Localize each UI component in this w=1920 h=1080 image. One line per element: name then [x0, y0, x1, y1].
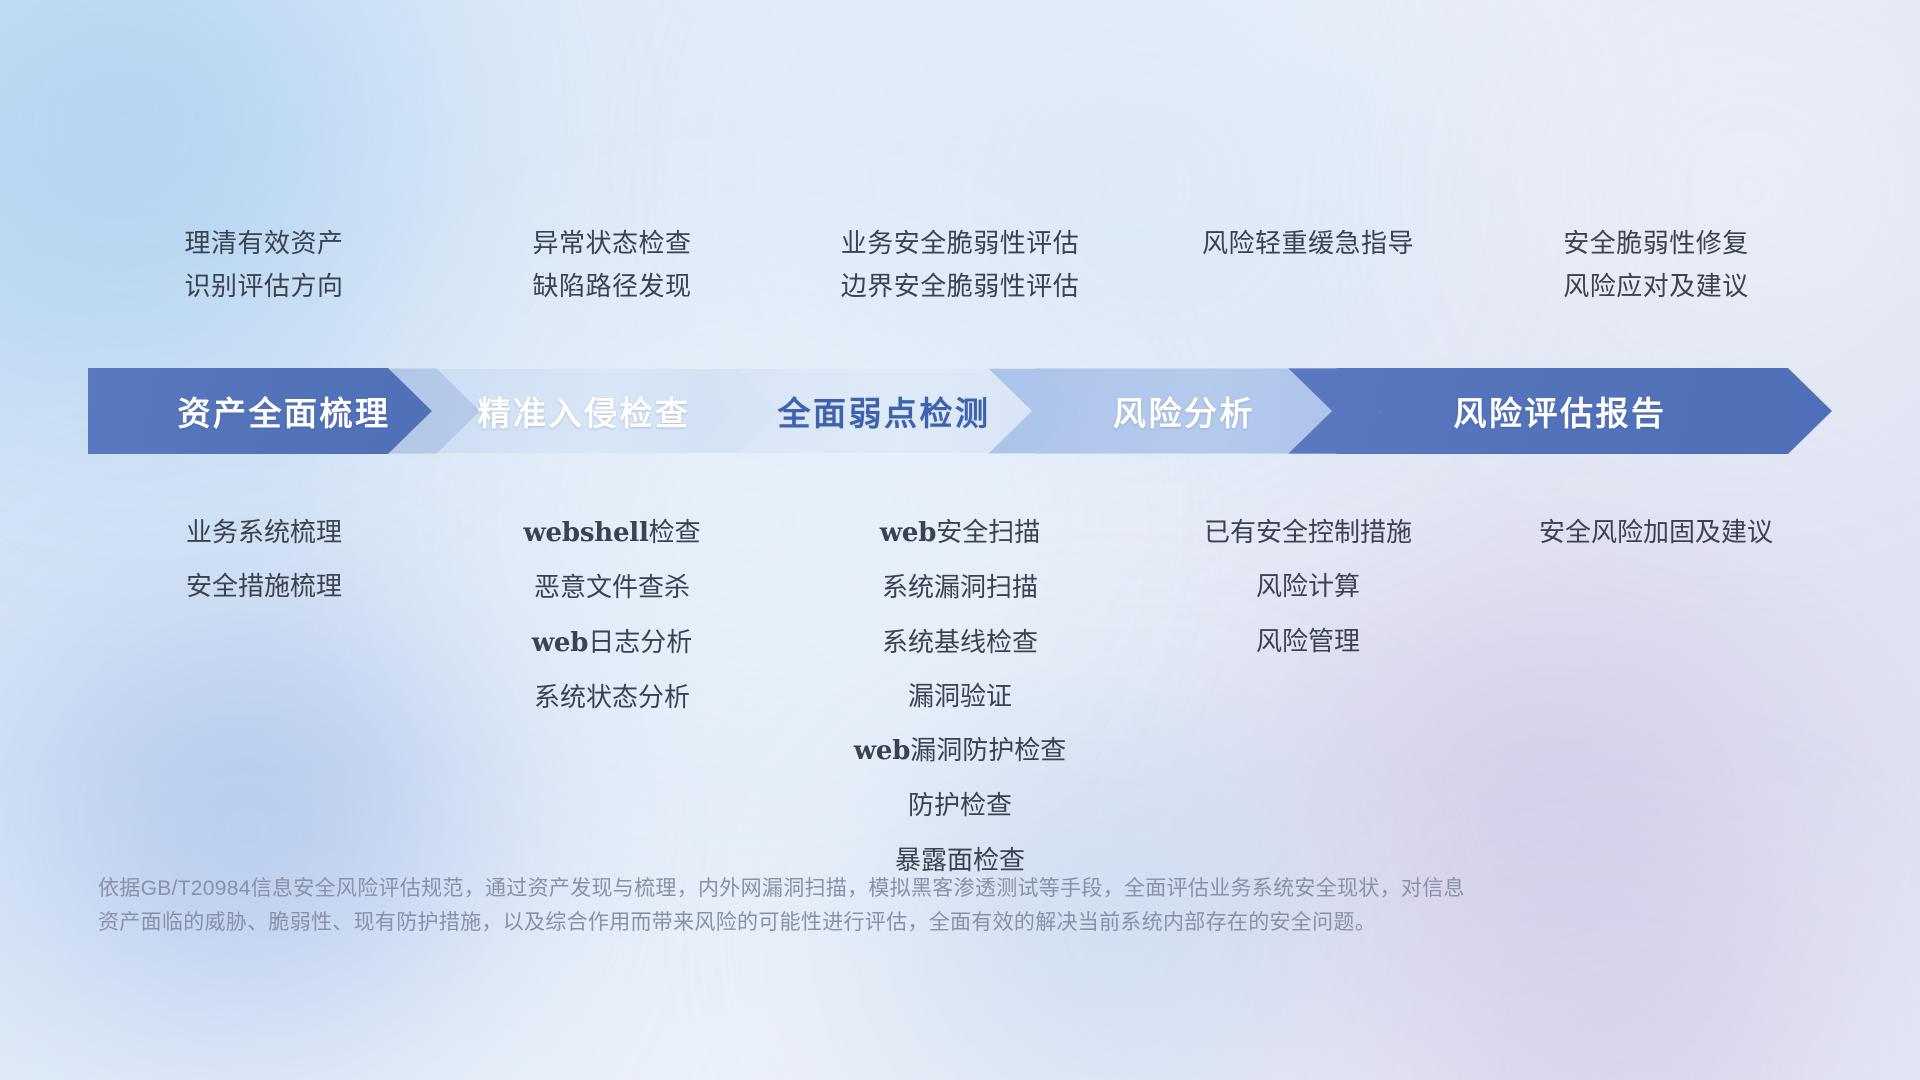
list-item: 风险计算 — [1134, 566, 1482, 606]
top-annotations-stage-4: 风险轻重缓急指导 — [1134, 222, 1482, 308]
list-item: 安全风险加固及建议 — [1482, 512, 1830, 552]
process-chevron-band: 资产全面梳理 精准入侵检查 全面弱点检测 风险分析 风险评估报告 — [88, 368, 1832, 454]
list-item-text: 安全措施梳理 — [186, 571, 342, 601]
list-item-text: 漏洞防护检查 — [910, 735, 1066, 765]
list-item: 漏洞验证 — [786, 676, 1134, 716]
list-item-text: 系统状态分析 — [534, 682, 690, 712]
top-annotation-item: 理清有效资产 — [90, 222, 438, 265]
list-item-text: 安全风险加固及建议 — [1539, 517, 1773, 547]
top-annotation-item: 异常状态检查 — [438, 222, 786, 265]
footer-description: 依据GB/T20984信息安全风险评估规范，通过资产发现与梳理，内外网漏洞扫描，… — [98, 872, 1618, 940]
bottom-list-stage-1: 业务系统梳理 安全措施梳理 — [90, 512, 438, 621]
list-item: 系统漏洞扫描 — [786, 567, 1134, 607]
list-item-prefix: web — [854, 736, 911, 766]
list-item-text: 风险计算 — [1256, 571, 1360, 601]
bottom-list-stage-5: 安全风险加固及建议 — [1482, 512, 1830, 566]
bottom-details-row: 业务系统梳理 安全措施梳理 webshell检查 恶意文件查杀 web日志分析 … — [90, 512, 1830, 894]
chevron-label: 风险评估报告 — [1454, 387, 1667, 435]
list-item-text: 日志分析 — [588, 627, 692, 657]
top-annotations-stage-2: 异常状态检查 缺陷路径发现 — [438, 222, 786, 308]
list-item: web安全扫描 — [786, 512, 1134, 553]
chevron-stage-4[interactable]: 风险分析 — [988, 368, 1380, 454]
bottom-list-stage-2: webshell检查 恶意文件查杀 web日志分析 系统状态分析 — [438, 512, 786, 731]
list-item-prefix: web — [880, 518, 937, 548]
list-item: 系统基线检查 — [786, 622, 1134, 662]
list-item: 系统状态分析 — [438, 677, 786, 717]
chevron-label: 资产全面梳理 — [178, 387, 391, 435]
list-item: web漏洞防护检查 — [786, 730, 1134, 771]
list-item-text: 检查 — [649, 517, 701, 547]
list-item: 安全措施梳理 — [90, 566, 438, 606]
list-item: 业务系统梳理 — [90, 512, 438, 552]
list-item-text: 系统基线检查 — [882, 627, 1038, 657]
chevron-label: 精准入侵检查 — [478, 387, 691, 435]
list-item-prefix: webshell — [523, 518, 648, 548]
list-item-text: 防护检查 — [908, 790, 1012, 820]
list-item: 已有安全控制措施 — [1134, 512, 1482, 552]
chevron-label: 全面弱点检测 — [778, 387, 991, 435]
list-item-text: 安全扫描 — [936, 517, 1040, 547]
top-annotations-stage-5: 安全脆弱性修复 风险应对及建议 — [1482, 222, 1830, 308]
top-annotation-item: 安全脆弱性修复 — [1482, 222, 1830, 265]
top-annotation-item: 业务安全脆弱性评估 — [786, 222, 1134, 265]
top-annotations-row: 理清有效资产 识别评估方向 异常状态检查 缺陷路径发现 业务安全脆弱性评估 边界… — [90, 222, 1830, 308]
chevron-label: 风险分析 — [1113, 387, 1255, 435]
slide-canvas: 理清有效资产 识别评估方向 异常状态检查 缺陷路径发现 业务安全脆弱性评估 边界… — [0, 0, 1920, 1080]
list-item: 风险管理 — [1134, 621, 1482, 661]
diagram-content: 理清有效资产 识别评估方向 异常状态检查 缺陷路径发现 业务安全脆弱性评估 边界… — [0, 0, 1920, 1080]
list-item-prefix: web — [532, 628, 589, 658]
top-annotation-item: 风险轻重缓急指导 — [1134, 222, 1482, 265]
list-item-text: 业务系统梳理 — [186, 517, 342, 547]
list-item: web日志分析 — [438, 622, 786, 663]
list-item-text: 暴露面检查 — [895, 845, 1025, 875]
top-annotations-stage-1: 理清有效资产 识别评估方向 — [90, 222, 438, 308]
top-annotation-item: 识别评估方向 — [90, 265, 438, 308]
list-item-text: 已有安全控制措施 — [1204, 517, 1412, 547]
bottom-list-stage-4: 已有安全控制措施 风险计算 风险管理 — [1134, 512, 1482, 675]
list-item-text: 风险管理 — [1256, 626, 1360, 656]
footer-line-2: 资产面临的威胁、脆弱性、现有防护措施，以及综合作用而带来风险的可能性进行评估，全… — [98, 906, 1618, 940]
top-annotations-stage-3: 业务安全脆弱性评估 边界安全脆弱性评估 — [786, 222, 1134, 308]
top-annotation-item: 边界安全脆弱性评估 — [786, 265, 1134, 308]
list-item: webshell检查 — [438, 512, 786, 553]
list-item-text: 系统漏洞扫描 — [882, 572, 1038, 602]
top-annotation-item: 缺陷路径发现 — [438, 265, 786, 308]
footer-line-1: 依据GB/T20984信息安全风险评估规范，通过资产发现与梳理，内外网漏洞扫描，… — [98, 872, 1618, 906]
list-item-text: 恶意文件查杀 — [534, 572, 690, 602]
list-item: 恶意文件查杀 — [438, 567, 786, 607]
list-item: 防护检查 — [786, 785, 1134, 825]
bottom-list-stage-3: web安全扫描 系统漏洞扫描 系统基线检查 漏洞验证 web漏洞防护检查 防护检… — [786, 512, 1134, 894]
list-item-text: 漏洞验证 — [908, 681, 1012, 711]
top-annotation-item: 风险应对及建议 — [1482, 265, 1830, 308]
